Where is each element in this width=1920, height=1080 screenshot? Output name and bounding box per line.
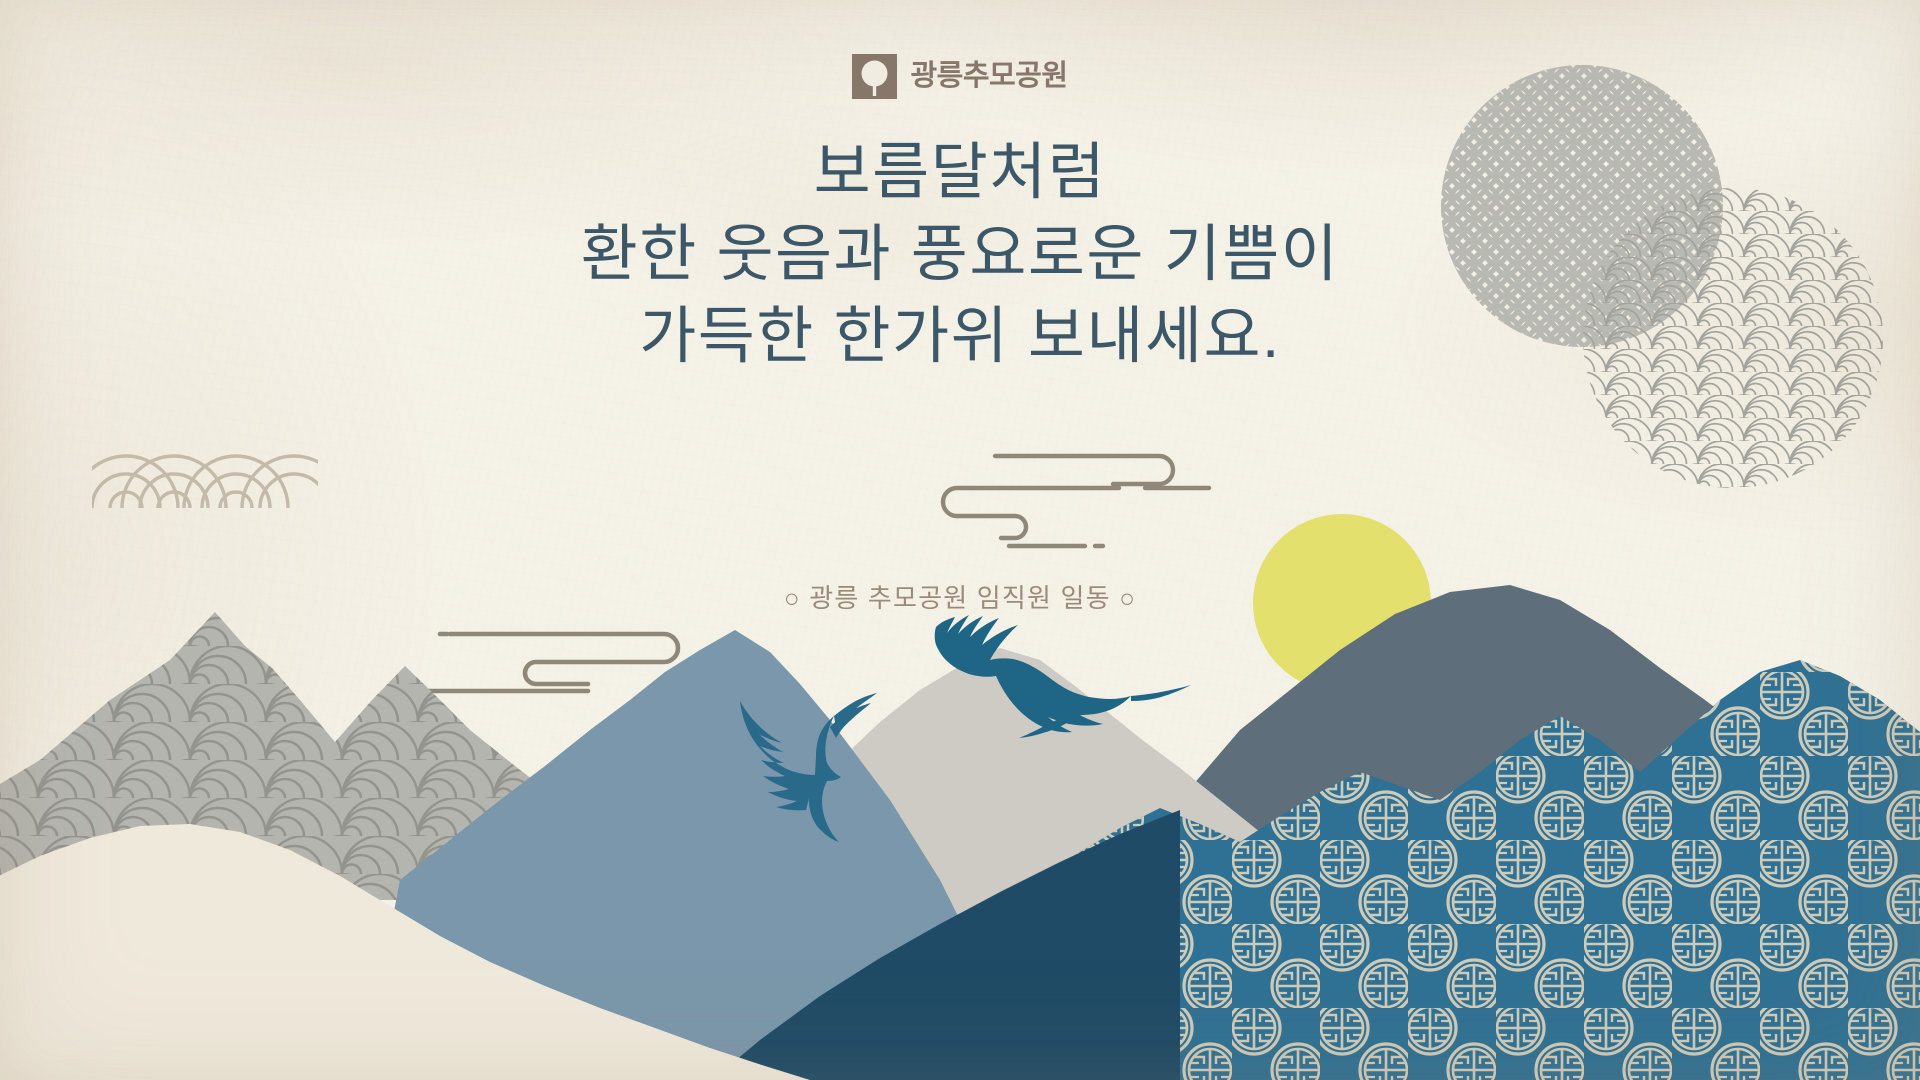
tree-in-square-logo-icon [852, 54, 897, 99]
signature-line: ○ 광릉 추모공원 임직원 일동 ○ [0, 578, 1920, 615]
chuseok-greeting-card: 광릉추모공원 보름달처럼 환한 웃음과 풍요로운 기쁨이 가득한 한가위 보내세… [0, 0, 1920, 1080]
greeting-line-2: 환한 웃음과 풍요로운 기쁨이 [0, 214, 1920, 296]
greeting-line-1: 보름달처럼 [0, 132, 1920, 214]
greeting-line-3: 가득한 한가위 보내세요. [0, 296, 1920, 378]
brand-name-label: 광릉추모공원 [910, 62, 1067, 91]
greeting-message: 보름달처럼 환한 웃음과 풍요로운 기쁨이 가득한 한가위 보내세요. [0, 132, 1920, 377]
brand-logo[interactable]: 광릉추모공원 [0, 54, 1920, 99]
